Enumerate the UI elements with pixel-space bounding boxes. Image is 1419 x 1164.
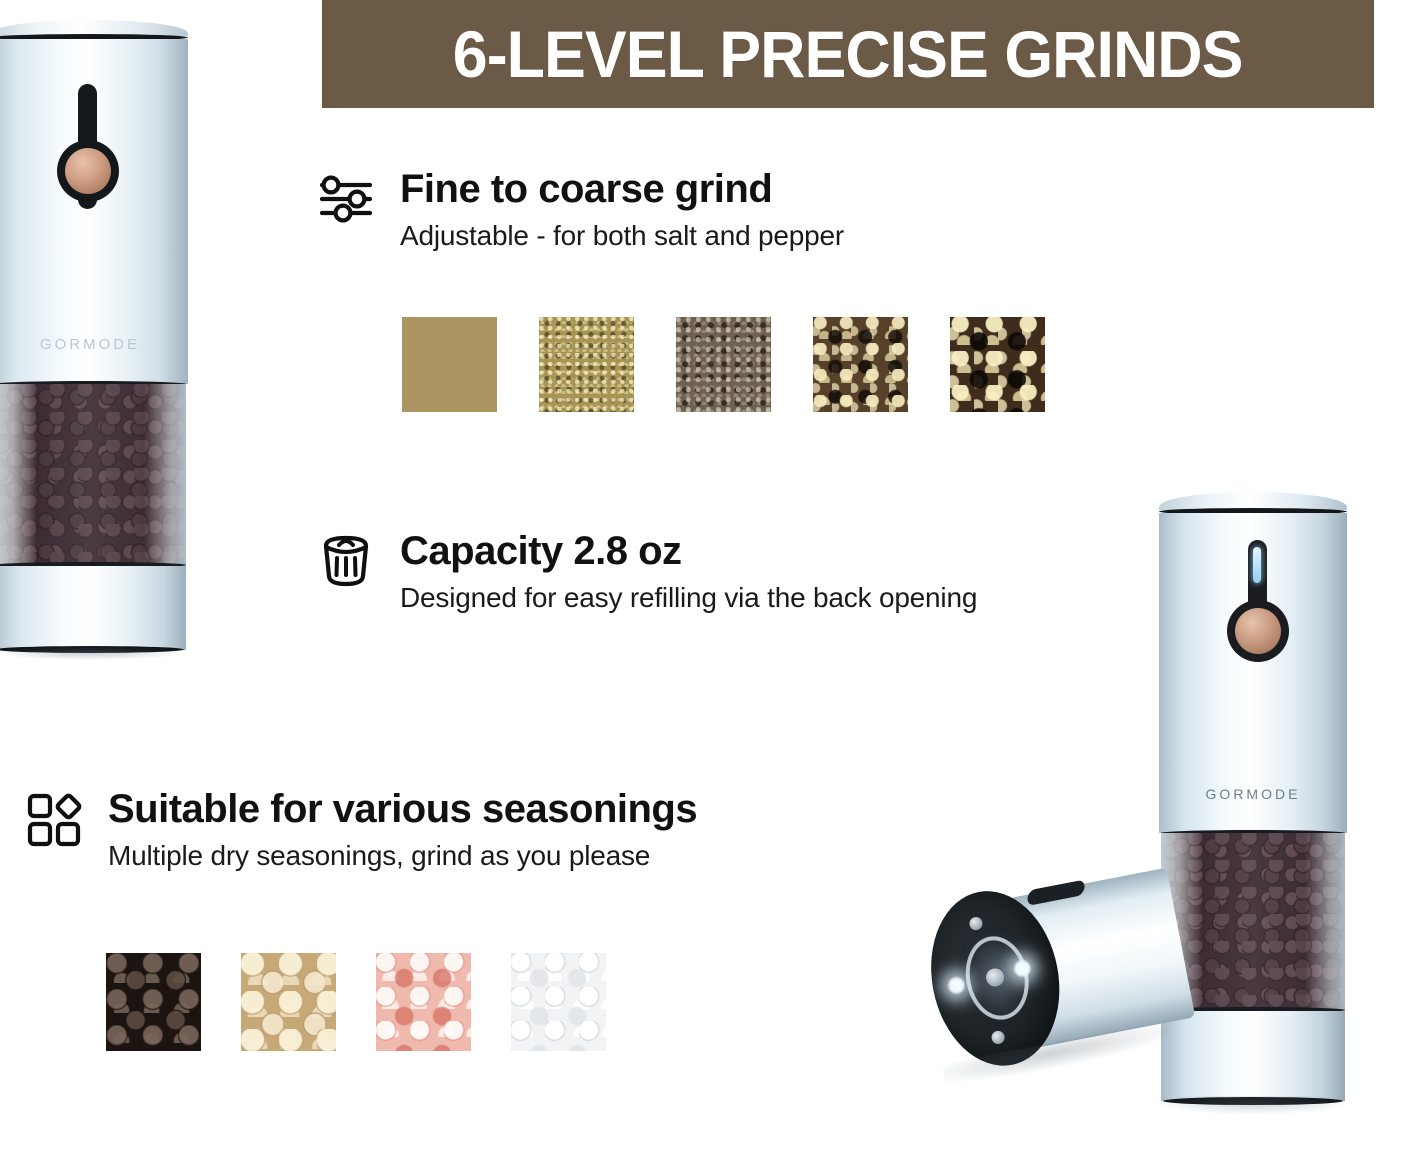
feature-text-capacity: Capacity 2.8 oz Designed for easy refill… — [400, 530, 977, 614]
grind-level-swatch-row — [402, 317, 1045, 412]
grinder-power-button-right — [1235, 608, 1281, 654]
feature-title-grind: Fine to coarse grind — [400, 168, 844, 210]
grinder-led-indicator — [1253, 547, 1261, 583]
shapes-grid-icon — [26, 788, 82, 850]
brand-label-left: GORMODE — [0, 336, 188, 353]
feature-text-seasonings: Suitable for various seasonings Multiple… — [108, 788, 697, 872]
seasoning-black-peppercorns — [106, 953, 201, 1051]
grind-level-medium-coarse — [813, 317, 908, 412]
grind-level-fine — [402, 317, 497, 412]
seasoning-sea-salt — [511, 953, 606, 1051]
header-banner: 6-LEVEL PRECISE GRINDS — [322, 0, 1374, 108]
seasoning-pink-himalayan-salt — [376, 953, 471, 1051]
grind-level-medium — [676, 317, 771, 412]
feature-title-capacity: Capacity 2.8 oz — [400, 530, 977, 572]
page-title: 6-LEVEL PRECISE GRINDS — [453, 16, 1243, 92]
feature-block-grind: Fine to coarse grind Adjustable - for bo… — [318, 168, 844, 252]
grinder-shadow-left — [0, 646, 182, 660]
grinder-pepper-chamber — [0, 384, 186, 566]
container-icon — [318, 530, 374, 592]
feature-title-seasonings: Suitable for various seasonings — [108, 788, 697, 830]
feature-block-seasonings: Suitable for various seasonings Multiple… — [26, 788, 697, 872]
grind-level-medium-fine — [539, 317, 634, 412]
sliders-icon — [318, 168, 374, 230]
seasoning-swatch-row — [106, 953, 606, 1051]
feature-subtitle-capacity: Designed for easy refilling via the back… — [400, 582, 977, 614]
product-image-grinder-front: GORMODE — [0, 20, 188, 652]
seasoning-white-peppercorns — [241, 953, 336, 1051]
product-image-grinder-lying — [915, 850, 1214, 1163]
feature-block-capacity: Capacity 2.8 oz Designed for easy refill… — [318, 530, 977, 614]
feature-subtitle-seasonings: Multiple dry seasonings, grind as you pl… — [108, 840, 697, 872]
feature-text-grind: Fine to coarse grind Adjustable - for bo… — [400, 168, 844, 252]
brand-label-right: GORMODE — [1159, 786, 1347, 802]
grinder-power-button — [65, 148, 111, 194]
grinder-base — [0, 566, 186, 650]
grind-level-coarse — [950, 317, 1045, 412]
feature-subtitle-grind: Adjustable - for both salt and pepper — [400, 220, 844, 252]
